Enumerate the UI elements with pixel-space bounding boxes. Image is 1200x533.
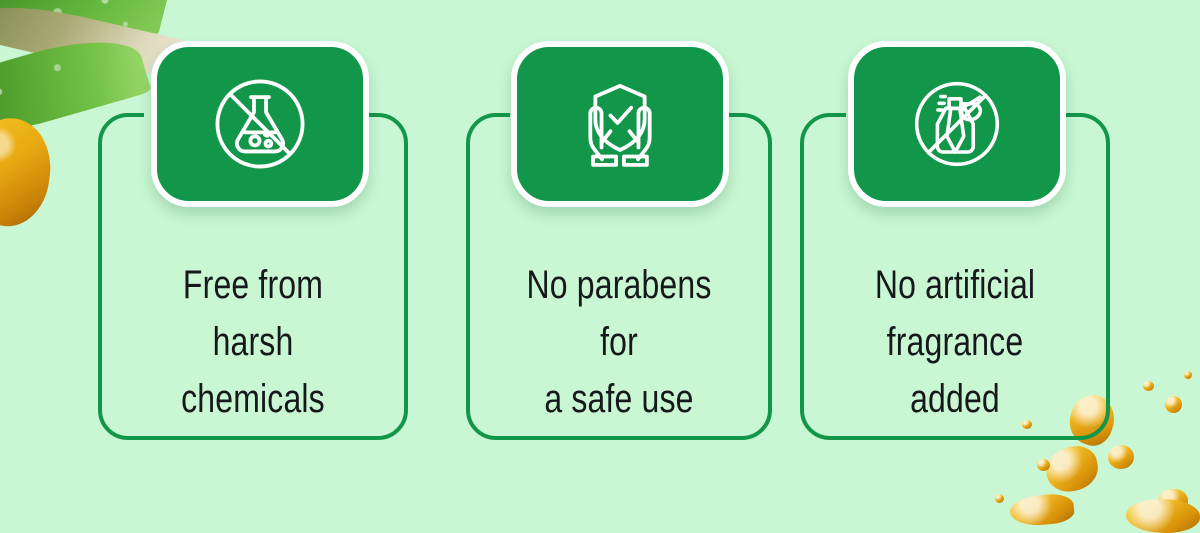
no-perfume-bottle-icon — [901, 68, 1013, 180]
benefits-banner: Free from harsh chemicals No parabens fo… — [0, 0, 1200, 533]
benefit-card-label: No artificial fragrance added — [844, 257, 1066, 427]
hands-holding-shield-check-icon — [564, 68, 676, 180]
benefit-card-label: Free from harsh chemicals — [142, 257, 364, 427]
benefit-card-label: No parabens for a safe use — [509, 257, 728, 427]
benefit-icon-tile — [151, 41, 369, 207]
benefit-icon-tile — [511, 41, 729, 207]
benefit-icon-tile — [848, 41, 1066, 207]
benefit-card-list: Free from harsh chemicals No parabens fo… — [0, 0, 1200, 533]
no-chemicals-flask-icon — [204, 68, 316, 180]
